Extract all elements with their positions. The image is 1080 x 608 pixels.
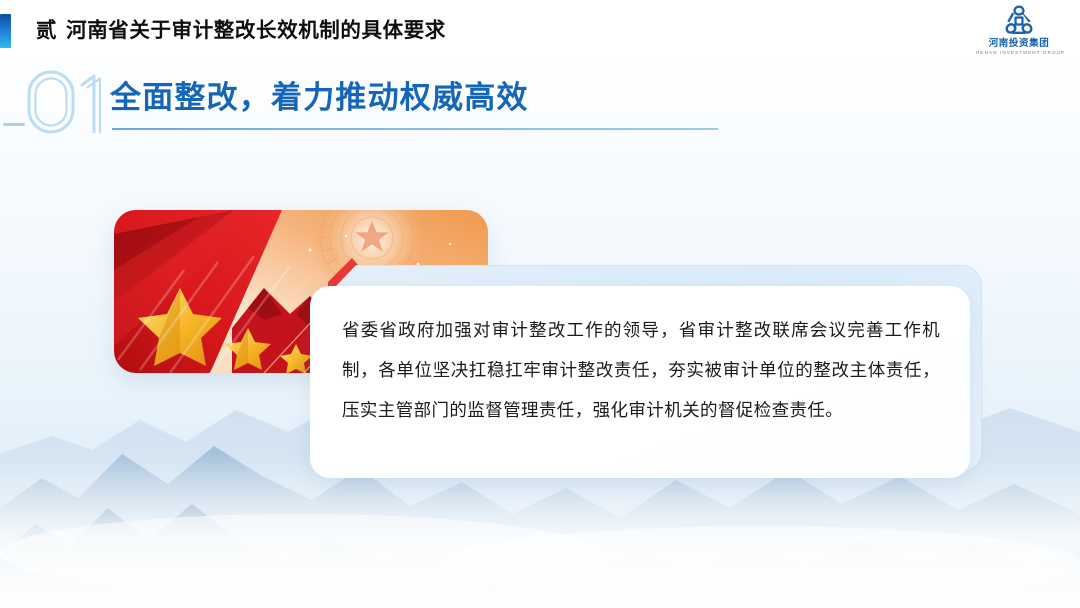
slide-canvas: 贰河南省关于审计整改长效机制的具体要求 河南投资集团 — [0, 0, 1080, 608]
section-title: 全面整改，着力推动权威高效 — [110, 72, 529, 117]
section-heading: 全面整改，着力推动权威高效 — [0, 68, 1080, 140]
logo-name-en: HENAN INVESTMENT GROUP — [976, 49, 1062, 56]
text-card: 省委省政府加强对审计整改工作的领导，省审计整改联席会议完善工作机制，各单位坚决扛… — [310, 286, 970, 478]
card-body-text: 省委省政府加强对审计整改工作的领导，省审计整改联席会议完善工作机制，各单位坚决扛… — [342, 310, 940, 430]
slide-header: 贰河南省关于审计整改长效机制的具体要求 河南投资集团 — [0, 0, 1080, 62]
section-underline — [112, 128, 718, 130]
header-accent-bar — [0, 14, 11, 48]
henan-investment-group-triangle-emblem-icon — [976, 5, 1062, 37]
page-title: 贰河南省关于审计整改长效机制的具体要求 — [36, 0, 446, 62]
company-logo: 河南投资集团 HENAN INVESTMENT GROUP — [976, 5, 1062, 59]
header-section-number: 贰 — [36, 19, 57, 42]
header-title-text: 河南省关于审计整改长效机制的具体要求 — [66, 19, 446, 42]
logo-name-cn: 河南投资集团 — [976, 38, 1062, 49]
section-number-outline — [22, 64, 118, 140]
